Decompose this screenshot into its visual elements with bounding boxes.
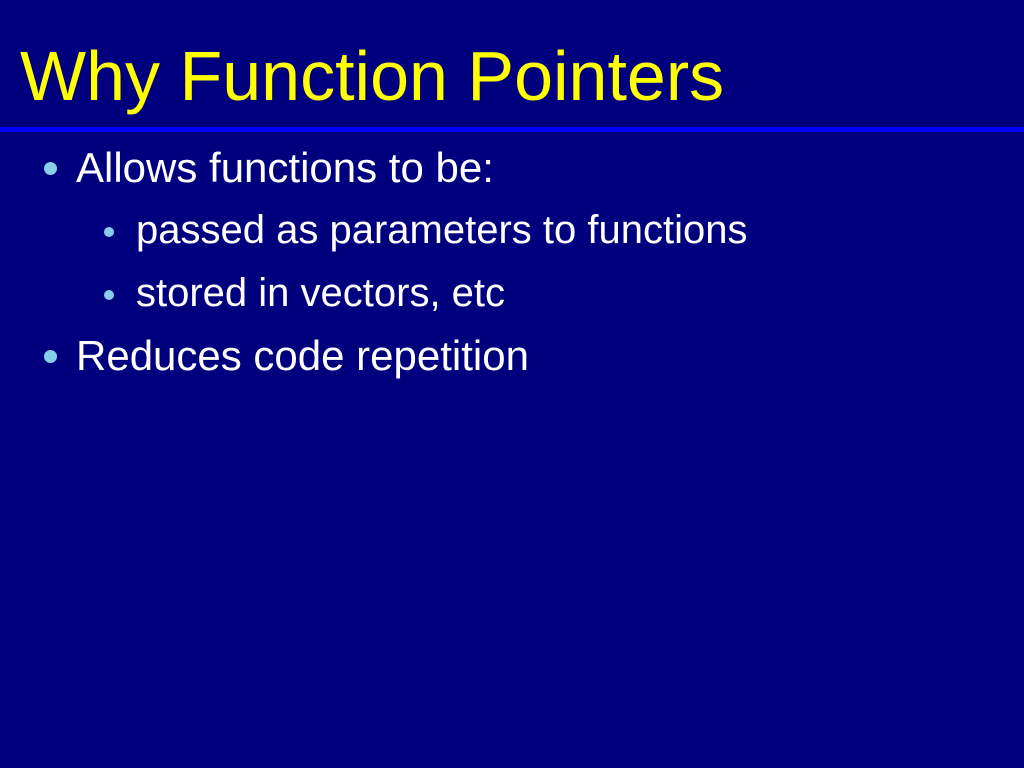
bullet-dot-icon [104,290,114,300]
bullet-dot-icon [44,162,57,175]
slide-title-block: Why Function Pointers [0,0,1024,129]
list-item: passed as parameters to functions [104,208,747,252]
list-item: stored in vectors, etc [104,271,505,315]
slide-body: Allows functions to be: passed as parame… [0,132,1024,768]
list-item: Allows functions to be: [44,145,494,191]
bullet-text: Reduces code repetition [76,333,529,379]
bullet-text: Allows functions to be: [76,145,494,191]
page-title: Why Function Pointers [20,41,724,111]
bullet-text: stored in vectors, etc [136,271,505,315]
presentation-slide: Why Function Pointers Allows functions t… [0,0,1024,768]
bullet-dot-icon [44,350,57,363]
bullet-dot-icon [104,227,114,237]
bullet-text: passed as parameters to functions [136,208,747,252]
list-item: Reduces code repetition [44,333,529,379]
